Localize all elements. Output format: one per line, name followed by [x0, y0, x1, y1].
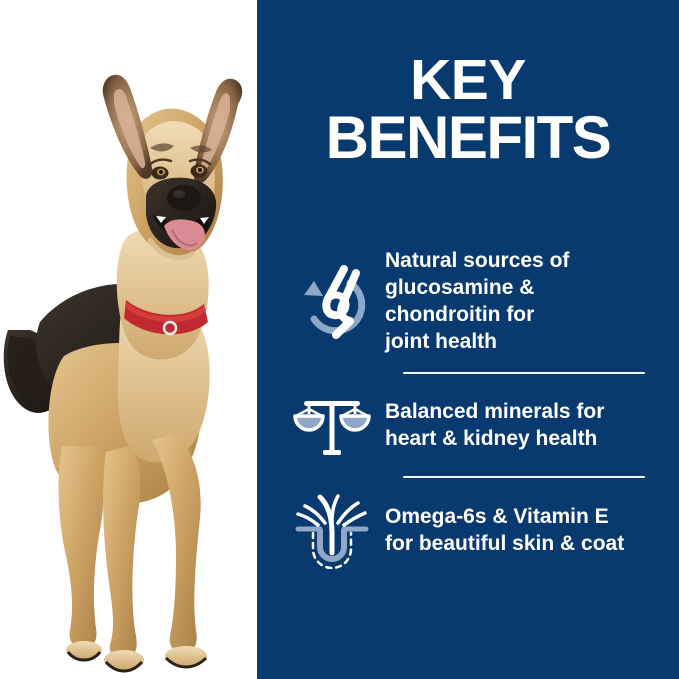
balance-scale-icon [287, 380, 377, 470]
dog-photo [0, 0, 257, 679]
benefit-item-minerals: Balanced minerals for heart & kidney hea… [257, 374, 679, 476]
benefit-1-line-4: joint health [385, 328, 661, 355]
benefit-1-line-1: Natural sources of [385, 247, 661, 274]
benefit-3-line-1: Omega-6s & Vitamin E [385, 503, 661, 530]
page-title: KEY BENEFITS [257, 53, 679, 168]
benefit-item-joint-health: Natural sources of glucosamine & chondro… [257, 230, 679, 372]
benefit-2-line-2: heart & kidney health [385, 425, 661, 452]
benefits-panel: KEY BENEFITS [257, 0, 679, 679]
benefit-text-joint-health: Natural sources of glucosamine & chondro… [377, 247, 661, 355]
title-line-1: KEY [257, 53, 679, 109]
benefit-2-line-1: Balanced minerals for [385, 398, 661, 425]
title-line-2: BENEFITS [257, 109, 679, 168]
benefit-list: Natural sources of glucosamine & chondro… [257, 230, 679, 582]
dog-photo-panel [0, 0, 257, 679]
key-benefits-poster: KEY BENEFITS [0, 0, 679, 679]
benefit-3-line-2: for beautiful skin & coat [385, 530, 661, 557]
benefit-1-line-3: chondroitin for [385, 301, 661, 328]
benefit-item-skin-coat: Omega-6s & Vitamin E for beautiful skin … [257, 478, 679, 582]
dog-illustration [0, 0, 257, 679]
benefit-1-line-2: glucosamine & [385, 274, 661, 301]
joint-rotation-icon [287, 256, 377, 346]
hair-follicle-icon [287, 485, 377, 575]
benefit-text-skin-coat: Omega-6s & Vitamin E for beautiful skin … [377, 503, 661, 557]
benefit-text-minerals: Balanced minerals for heart & kidney hea… [377, 398, 661, 452]
